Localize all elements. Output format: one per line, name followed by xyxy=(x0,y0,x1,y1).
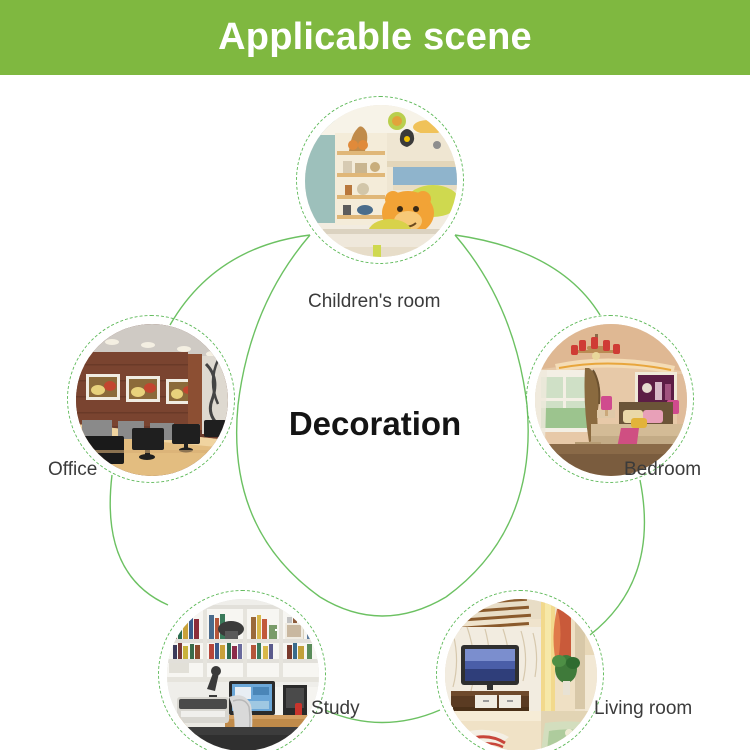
connector-office-children xyxy=(170,235,310,325)
node-label-bedroom: Bedroom xyxy=(624,459,701,481)
children-room-photo xyxy=(305,105,457,257)
applicable-scene-infographic: Applicable scene xyxy=(0,0,750,750)
office-photo xyxy=(76,324,228,476)
node-label-children-room: Children's room xyxy=(308,291,440,313)
node-label-study: Study xyxy=(311,698,360,720)
diagram-area: Decoration xyxy=(0,75,750,750)
living-room-photo xyxy=(445,599,597,750)
bedroom-photo xyxy=(535,324,687,476)
node-label-office: Office xyxy=(48,459,97,481)
node-living-room[interactable] xyxy=(436,590,606,750)
connector-children-bedroom xyxy=(455,235,600,315)
node-label-living-room: Living room xyxy=(594,698,692,720)
study-photo xyxy=(167,599,319,750)
header-bar: Applicable scene xyxy=(0,0,750,75)
page-title: Applicable scene xyxy=(218,18,532,56)
connector-study-office xyxy=(110,475,168,605)
node-children-room[interactable] xyxy=(296,96,466,266)
connector-inner-study-living xyxy=(320,597,446,616)
node-study[interactable] xyxy=(158,590,328,750)
